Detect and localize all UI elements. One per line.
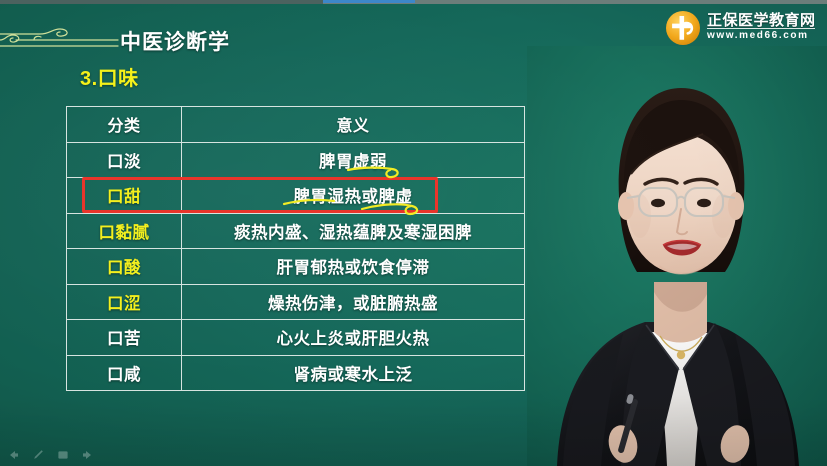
table-cell-meaning: 肝胃郁热或饮食停滞 [182, 249, 525, 285]
previous-slide-icon[interactable] [6, 448, 20, 462]
page-title: 中医诊断学 [120, 26, 230, 56]
progress-buffer [323, 0, 415, 3]
section-heading: 3.口味 [80, 62, 139, 91]
slide-controls [6, 448, 95, 462]
table-header-row: 分类意义 [67, 107, 525, 143]
table-row: 口涩燥热伤津，或脏腑热盛 [67, 284, 525, 320]
slide-view-icon[interactable] [56, 448, 70, 462]
logo-divider [707, 28, 815, 29]
table-header-cell: 意义 [182, 107, 525, 143]
brand-name: 正保医学教育网 [707, 9, 816, 30]
table-cell-meaning: 脾胃虚弱 [182, 142, 525, 178]
table-cell-category: 口苦 [67, 320, 182, 356]
lecture-video-frame: 中医诊断学 3.口味 正保医学教育网 www.med66.com 分 [0, 0, 827, 466]
video-progress-bar[interactable] [0, 0, 827, 4]
cloud-ornament-icon [0, 28, 120, 54]
table-row: 口甜脾胃湿热或脾虚 [67, 178, 525, 214]
table-row: 口淡脾胃虚弱 [67, 142, 525, 178]
table-cell-meaning: 燥热伤津，或脏腑热盛 [182, 284, 525, 320]
table-cell-meaning: 痰热内盛、湿热蕴脾及寒湿困脾 [182, 213, 525, 249]
pen-icon[interactable] [31, 448, 45, 462]
table-cell-category: 口咸 [67, 355, 182, 391]
next-slide-icon[interactable] [81, 448, 95, 462]
medical-cross-icon [665, 10, 701, 46]
table-header-cell: 分类 [67, 107, 182, 143]
table-cell-category: 口涩 [67, 284, 182, 320]
table-cell-category: 口黏腻 [67, 213, 182, 249]
table-cell-category: 口酸 [67, 249, 182, 285]
table-cell-meaning: 肾病或寒水上泛 [182, 355, 525, 391]
table-row: 口苦心火上炎或肝胆火热 [67, 320, 525, 356]
table-cell-category: 口甜 [67, 178, 182, 214]
progress-played [0, 0, 323, 4]
table-row: 口黏腻痰热内盛、湿热蕴脾及寒湿困脾 [67, 213, 525, 249]
table-cell-category: 口淡 [67, 142, 182, 178]
brand-url: www.med66.com [707, 30, 809, 41]
brand-logo: 正保医学教育网 www.med66.com [665, 8, 817, 50]
table-cell-meaning: 脾胃湿热或脾虚 [182, 178, 525, 214]
table-row: 口咸肾病或寒水上泛 [67, 355, 525, 391]
table-row: 口酸肝胃郁热或饮食停滞 [67, 249, 525, 285]
flavor-table: 分类意义口淡脾胃虚弱口甜脾胃湿热或脾虚口黏腻痰热内盛、湿热蕴脾及寒湿困脾口酸肝胃… [66, 106, 525, 391]
table-cell-meaning: 心火上炎或肝胆火热 [182, 320, 525, 356]
